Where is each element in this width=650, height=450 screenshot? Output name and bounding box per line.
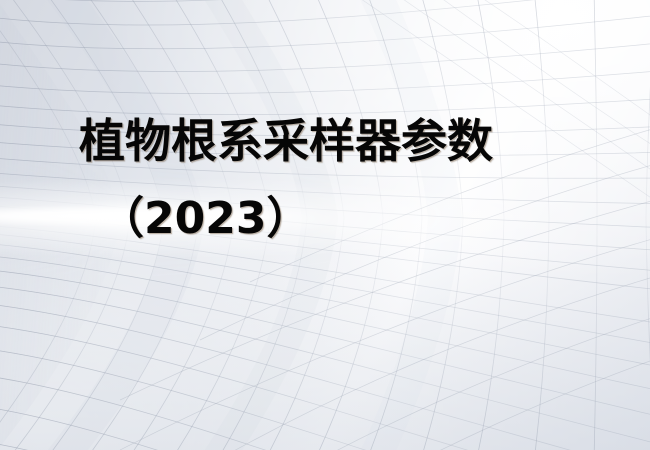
slide-title-line-2: （2023）	[0, 190, 650, 248]
slide-title-block: 植物根系采样器参数 （2023）	[0, 112, 650, 248]
title-slide: 植物根系采样器参数 （2023）	[0, 0, 650, 450]
slide-title-line-1: 植物根系采样器参数	[0, 112, 650, 170]
